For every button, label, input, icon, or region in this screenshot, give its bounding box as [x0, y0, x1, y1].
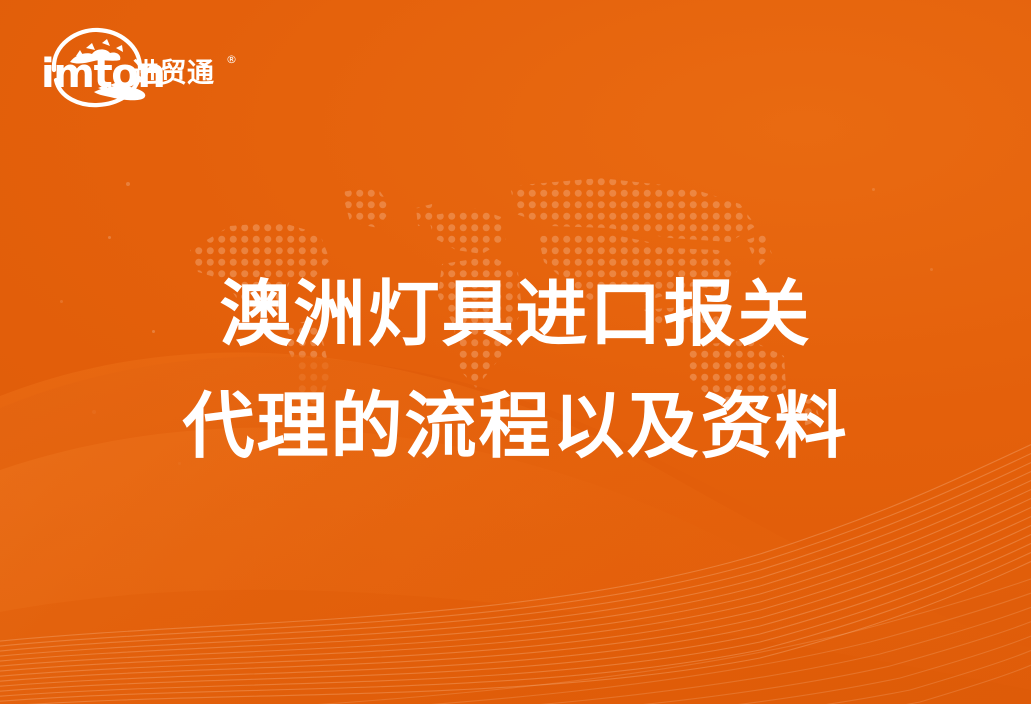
- banner-root: imton 进贸通 ® 澳洲灯具进口报关 代理的流程以及资料: [0, 0, 1031, 704]
- logo-chinese-text: 进贸通: [132, 60, 215, 87]
- registered-trademark-icon: ®: [226, 54, 237, 65]
- headline-line-2: 代理的流程以及资料: [0, 370, 1031, 482]
- logo[interactable]: imton 进贸通 ®: [36, 26, 236, 108]
- headline-line-1: 澳洲灯具进口报关: [0, 258, 1031, 370]
- headline: 澳洲灯具进口报关 代理的流程以及资料: [0, 258, 1031, 482]
